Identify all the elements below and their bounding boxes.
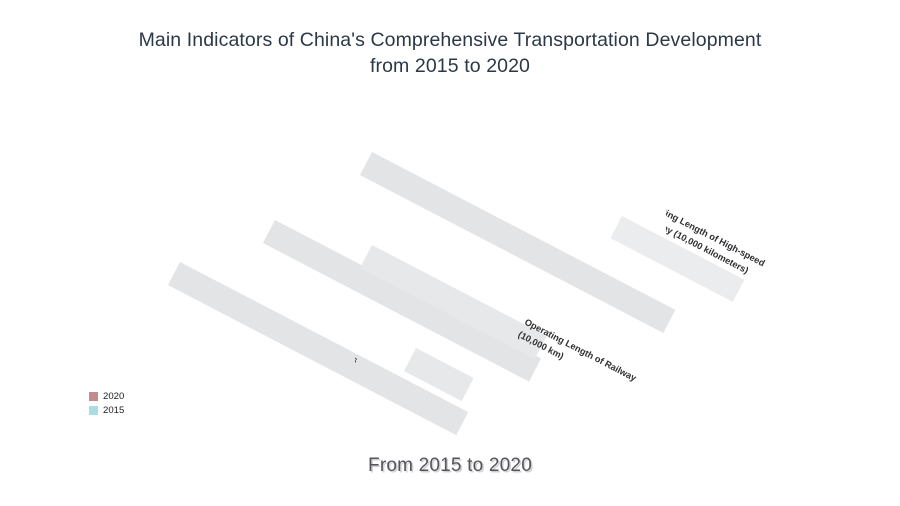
x-axis-title: From 2015 to 2020: [0, 455, 900, 477]
legend-item-2015[interactable]: 2015: [89, 405, 124, 416]
chart-canvas: Main Indicators of China's Comprehensive…: [0, 0, 900, 506]
legend-label-2015: 2015: [103, 406, 124, 416]
category-label-hsr-clip: ting Length of High-speed way (10,000 ki…: [666, 204, 806, 284]
category-label-high-speed-railway: ting Length of High-speed way (10,000 ki…: [666, 206, 767, 283]
category-label-expressways-line-1: f Expressways: [355, 327, 359, 365]
legend-label-2020: 2020: [103, 392, 124, 402]
legend-swatch-2020: [89, 392, 98, 401]
legend-swatch-2015: [89, 406, 98, 415]
category-label-expressways-clip: f Expressways eters): [355, 322, 465, 384]
category-label-expressways: f Expressways eters): [355, 326, 360, 380]
chart-legend[interactable]: 2020 2015: [89, 391, 124, 416]
legend-item-2020[interactable]: 2020: [89, 391, 124, 402]
